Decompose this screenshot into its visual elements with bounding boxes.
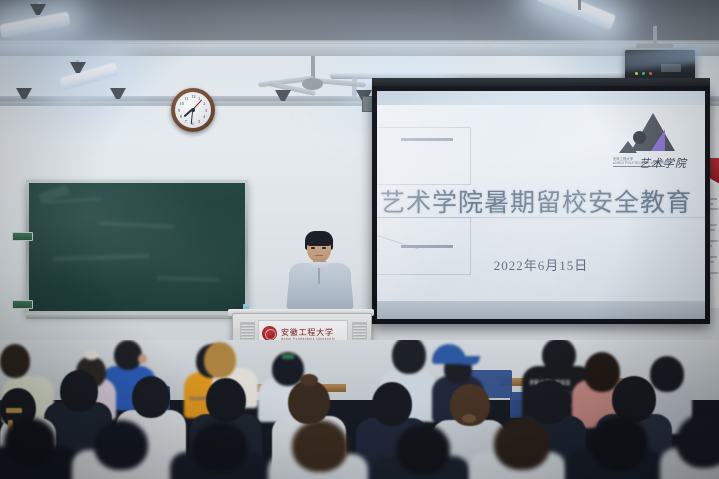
hair-bun bbox=[300, 374, 318, 386]
person-face bbox=[138, 354, 147, 364]
person-head bbox=[192, 422, 248, 472]
slide-date: 2022年6月15日 bbox=[377, 255, 705, 274]
person-head bbox=[0, 344, 30, 378]
slide-rule-top bbox=[401, 138, 453, 141]
clock-numeral: 12 bbox=[192, 94, 196, 99]
ceiling-fan-hub bbox=[302, 78, 323, 90]
hair-tie bbox=[462, 414, 476, 423]
person-head bbox=[288, 380, 330, 424]
college-logo: 安徽工程大学 ANHUI POLYTECHNIC UNIVERSITY 艺术学院 bbox=[613, 113, 699, 177]
person-head bbox=[132, 376, 170, 418]
speaker-eye-right bbox=[322, 247, 326, 249]
clock-numeral: 1 bbox=[198, 96, 200, 101]
logo-small-peak bbox=[619, 141, 637, 153]
person-head bbox=[676, 414, 719, 468]
person-head bbox=[494, 418, 550, 470]
person-head bbox=[590, 416, 648, 470]
cap-brim bbox=[458, 356, 480, 365]
person-head-blonde bbox=[204, 342, 236, 378]
slide-title: 艺术学院暑期留校安全教育 bbox=[380, 183, 705, 219]
clock-face: 121234567891011 bbox=[175, 92, 211, 128]
wall-sign-lower bbox=[12, 300, 33, 309]
speaker-eye-left bbox=[311, 247, 315, 249]
logo-college-name: 艺术学院 bbox=[639, 155, 687, 171]
chalk-smudge bbox=[53, 253, 149, 261]
clock-numeral: 3 bbox=[205, 108, 207, 113]
light-stem bbox=[578, 0, 581, 10]
hair-clip bbox=[6, 408, 22, 413]
person-head bbox=[4, 418, 56, 466]
person-head bbox=[94, 420, 148, 470]
person-head bbox=[396, 424, 450, 474]
chalk-smudge bbox=[157, 276, 219, 282]
projector-led bbox=[642, 72, 645, 75]
speaker-shirt-placket bbox=[318, 268, 320, 284]
projector-led bbox=[635, 72, 638, 75]
hair-scrunchie bbox=[84, 350, 99, 360]
wall-sign-upper bbox=[12, 232, 33, 241]
person-head bbox=[528, 380, 570, 424]
person-head bbox=[60, 370, 98, 412]
clock-numeral: 8 bbox=[180, 114, 182, 119]
person-head bbox=[372, 382, 412, 426]
presentation-slide: 安徽工程大学 ANHUI POLYTECHNIC UNIVERSITY 艺术学院… bbox=[377, 105, 705, 301]
clock-center-pin bbox=[191, 108, 195, 112]
person-head bbox=[650, 356, 684, 392]
clock-numeral: 9 bbox=[178, 108, 180, 113]
clock-numeral: 5 bbox=[198, 119, 200, 124]
clock-numeral: 4 bbox=[203, 114, 205, 119]
person-head bbox=[206, 378, 246, 422]
wall-clock: 121234567891011 bbox=[171, 88, 215, 132]
blackboard bbox=[29, 183, 245, 311]
audience: essential FEARLESS bbox=[0, 340, 719, 479]
person-head bbox=[542, 340, 576, 372]
person-head bbox=[292, 420, 348, 472]
clock-numeral: 10 bbox=[180, 101, 184, 106]
clock-numeral: 11 bbox=[185, 96, 189, 101]
chalk-tray bbox=[26, 313, 250, 319]
person-head bbox=[114, 340, 142, 370]
clock-numeral: 7 bbox=[185, 119, 187, 124]
speaker-hair bbox=[305, 231, 333, 246]
clock-numeral: 2 bbox=[203, 101, 205, 106]
classroom-photo: 121234567891011 公告 bbox=[0, 0, 719, 479]
clock-numeral: 6 bbox=[192, 121, 194, 126]
projector-screen-lower-band bbox=[377, 299, 705, 319]
projector-led bbox=[649, 72, 652, 75]
person-head bbox=[392, 340, 426, 374]
university-seal-ring bbox=[265, 329, 276, 340]
chalk-smudge bbox=[99, 221, 173, 229]
hair-clip bbox=[282, 354, 294, 359]
slide-ghost-box-top bbox=[377, 127, 471, 185]
